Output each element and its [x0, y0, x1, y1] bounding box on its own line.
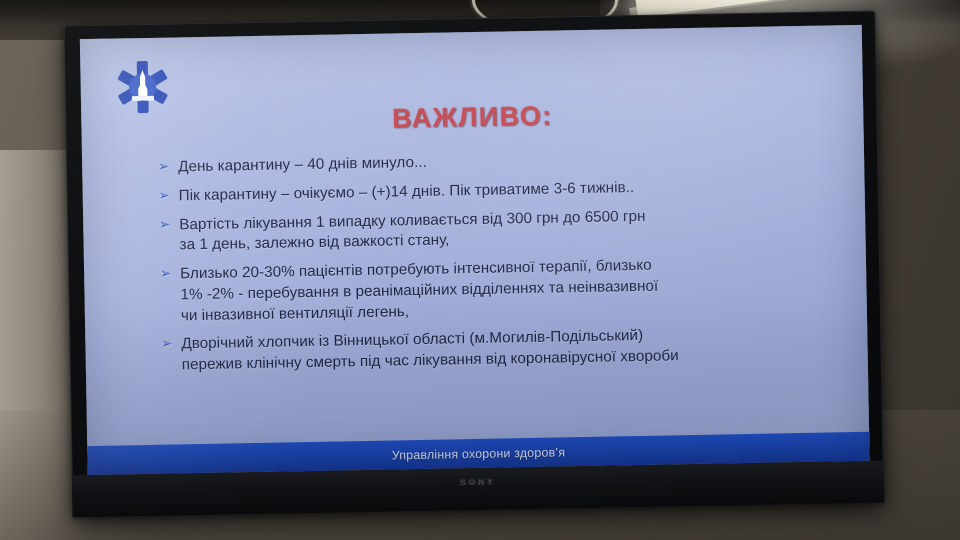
bullet-item: ➢ Близько 20-30% пацієнтів потребують ін…: [180, 252, 833, 325]
slide-footer-text: Управління охорони здоров’я: [392, 445, 566, 462]
slide-bullet-list: ➢ День карантину – 40 днів минуло... ➢ П…: [178, 145, 834, 384]
slide-content-area: ВАЖЛИВО: ➢ День карантину – 40 днів мину…: [80, 25, 869, 446]
presentation-slide: ВАЖЛИВО: ➢ День карантину – 40 днів мину…: [80, 25, 870, 475]
bullet-item: ➢ Вартість лікування 1 випадку коливаєть…: [179, 203, 832, 255]
bullet-line: Пік карантину – очікуємо – (+)14 днів. П…: [179, 174, 831, 206]
bullet-marker-icon: ➢: [158, 158, 169, 176]
bullet-item: ➢ День карантину – 40 днів минуло...: [178, 145, 830, 177]
bullet-item: ➢ Дворічний хлопчик із Вінницької област…: [181, 323, 834, 375]
bullet-item: ➢ Пік карантину – очікуємо – (+)14 днів.…: [179, 174, 831, 206]
bullet-marker-icon: ➢: [159, 186, 170, 204]
room-scene: ВАЖЛИВО: ➢ День карантину – 40 днів мину…: [0, 0, 960, 540]
bullet-marker-icon: ➢: [161, 335, 172, 353]
bullet-marker-icon: ➢: [160, 265, 171, 283]
tv-brand-logo: SONY: [460, 477, 496, 487]
tv-screen: ВАЖЛИВО: ➢ День карантину – 40 днів мину…: [80, 25, 870, 475]
bullet-line: День карантину – 40 днів минуло...: [178, 145, 830, 177]
slide-title: ВАЖЛИВО:: [81, 95, 863, 140]
wall-mounted-television: ВАЖЛИВО: ➢ День карантину – 40 днів мину…: [64, 11, 885, 518]
star-of-life-logo-icon: [114, 60, 171, 115]
bullet-marker-icon: ➢: [159, 215, 170, 233]
